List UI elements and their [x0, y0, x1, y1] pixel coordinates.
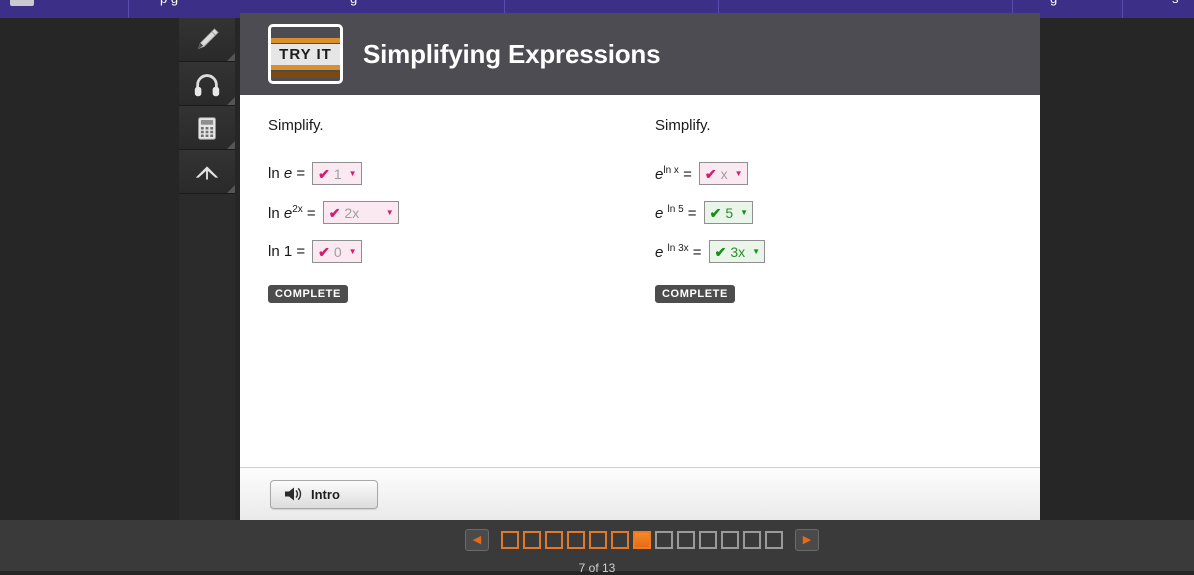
page-dot-4[interactable]: [567, 531, 585, 549]
question-row: ln e2x = ✔ 2x ▼: [268, 193, 628, 232]
answer-dropdown[interactable]: ✔ 2x ▼: [323, 201, 399, 224]
page-dot-7[interactable]: [633, 531, 651, 549]
answer-value: x: [721, 167, 728, 181]
answer-dropdown[interactable]: ✔ 1 ▼: [312, 162, 361, 185]
logo-bar-bottom-dark: [271, 72, 340, 78]
check-icon: ✔: [715, 245, 727, 259]
question-row: ln e = ✔ 1 ▼: [268, 154, 628, 193]
question-row: e ln 3x = ✔ 3x ▼: [655, 232, 1015, 271]
page-title: Simplifying Expressions: [363, 39, 660, 70]
page-dot-8[interactable]: [655, 531, 673, 549]
page-dot-11[interactable]: [721, 531, 739, 549]
expression-label: ln e =: [268, 165, 305, 182]
headphones-icon: [192, 69, 222, 99]
topbar-text-1[interactable]: p g: [160, 0, 178, 6]
chevron-down-icon: ▼: [383, 209, 394, 217]
question-column-right: Simplify. eln x = ✔ x ▼ e ln 5 = ✔ 5 ▼ e…: [655, 117, 1015, 303]
page-dot-9[interactable]: [677, 531, 695, 549]
page-dot-3[interactable]: [545, 531, 563, 549]
topbar-text-3[interactable]: g: [1050, 0, 1057, 6]
page-dots: [501, 531, 783, 549]
page-dot-2[interactable]: [523, 531, 541, 549]
chevron-down-icon: ▼: [737, 209, 748, 217]
answer-value: 2x: [344, 206, 359, 220]
page-dot-1[interactable]: [501, 531, 519, 549]
prev-arrow-icon: ◀: [473, 535, 481, 546]
next-page-button[interactable]: ▶: [795, 529, 819, 551]
status-badge: COMPLETE: [268, 285, 348, 303]
exponent: ln x: [663, 165, 679, 176]
status-badge: COMPLETE: [655, 285, 735, 303]
chevron-down-icon: ▼: [749, 248, 760, 256]
answer-value: 5: [725, 206, 733, 220]
answer-value: 1: [334, 167, 342, 181]
expression-label: e ln 5 =: [655, 204, 697, 222]
slide-stage: TRY IT Simplifying Expressions Simplify.…: [240, 13, 1040, 520]
check-icon: ✔: [705, 167, 717, 181]
exponent: 2x: [292, 204, 303, 215]
audio-intro-label: Intro: [311, 487, 340, 502]
tool-rail: [179, 18, 235, 571]
topbar-text-4[interactable]: s: [1172, 0, 1179, 6]
page-dot-12[interactable]: [743, 531, 761, 549]
try-it-logo: TRY IT: [268, 24, 343, 84]
check-icon: ✔: [318, 245, 330, 259]
logo-bar-top: [271, 38, 340, 43]
page-indicator: 7 of 13: [0, 561, 1194, 575]
exponent: ln 3x: [668, 243, 689, 254]
exponent: ln 5: [668, 204, 684, 215]
answer-dropdown[interactable]: ✔ 5 ▼: [704, 201, 753, 224]
prev-page-button[interactable]: ◀: [465, 529, 489, 551]
chevron-down-icon: ▼: [732, 170, 743, 178]
audio-intro-button[interactable]: Intro: [270, 480, 378, 509]
answer-value: 0: [334, 245, 342, 259]
next-arrow-icon: ▶: [803, 535, 811, 546]
window-control[interactable]: [10, 0, 34, 6]
chevron-up-icon: [192, 157, 222, 187]
sidebar-item-pencil[interactable]: [179, 18, 235, 62]
question-row: eln x = ✔ x ▼: [655, 154, 1015, 193]
page-dot-13[interactable]: [765, 531, 783, 549]
check-icon: ✔: [710, 206, 722, 220]
expression-label: ln e2x =: [268, 204, 316, 222]
page-nav-row: ◀ ▶: [465, 529, 819, 551]
topbar-divider: [128, 0, 129, 18]
topbar-text-2[interactable]: g: [350, 0, 357, 6]
answer-dropdown[interactable]: ✔ 0 ▼: [312, 240, 361, 263]
slide-header: TRY IT Simplifying Expressions: [240, 13, 1040, 95]
topbar-divider: [1122, 0, 1123, 18]
chevron-down-icon: ▼: [346, 170, 357, 178]
column-prompt: Simplify.: [655, 117, 1015, 134]
try-it-logo-text: TRY IT: [271, 44, 340, 65]
question-row: e ln 5 = ✔ 5 ▼: [655, 193, 1015, 232]
chevron-down-icon: ▼: [346, 248, 357, 256]
page-dot-10[interactable]: [699, 531, 717, 549]
check-icon: ✔: [318, 167, 330, 181]
question-row: ln 1 = ✔ 0 ▼: [268, 232, 628, 271]
answer-dropdown[interactable]: ✔ x ▼: [699, 162, 748, 185]
expression-label: eln x =: [655, 165, 692, 183]
speaker-icon: [283, 485, 303, 503]
check-icon: ✔: [329, 206, 341, 220]
sidebar-item-collapse[interactable]: [179, 150, 235, 194]
answer-value: 3x: [730, 245, 745, 259]
sidebar-item-audio[interactable]: [179, 62, 235, 106]
expression-label: ln 1 =: [268, 243, 305, 260]
sidebar-item-calculator[interactable]: [179, 106, 235, 150]
bottom-navigation: ◀ ▶ 7 of 13: [0, 520, 1194, 571]
question-column-left: Simplify. ln e = ✔ 1 ▼ ln e2x = ✔ 2x ▼ l…: [268, 117, 628, 303]
slide-body: Simplify. ln e = ✔ 1 ▼ ln e2x = ✔ 2x ▼ l…: [240, 95, 1040, 467]
answer-dropdown[interactable]: ✔ 3x ▼: [709, 240, 765, 263]
page-dot-6[interactable]: [611, 531, 629, 549]
slide-footer: Intro: [240, 467, 1040, 520]
logo-bar-bottom: [271, 65, 340, 70]
pencil-icon: [192, 25, 222, 55]
expression-label: e ln 3x =: [655, 243, 702, 261]
page-dot-5[interactable]: [589, 531, 607, 549]
column-prompt: Simplify.: [268, 117, 628, 134]
calculator-icon: [192, 113, 222, 143]
